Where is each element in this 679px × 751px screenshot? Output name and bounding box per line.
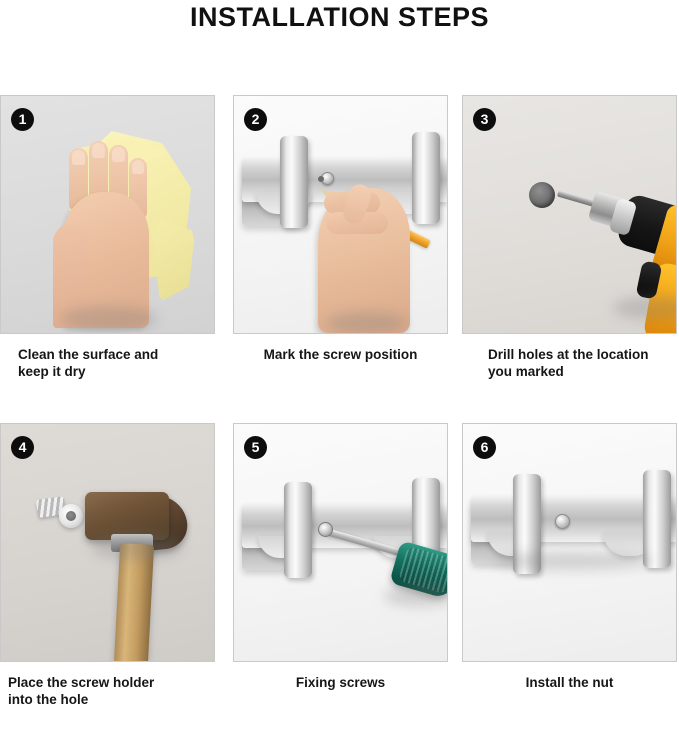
anchor-ring <box>59 504 83 528</box>
cloth-fold <box>151 216 195 302</box>
rack-shadow <box>493 552 653 570</box>
drill-shadow <box>613 296 677 320</box>
step-5-number-badge: 5 <box>244 436 267 459</box>
step-1-image: 1 <box>0 95 215 334</box>
screwdriver-shadow <box>384 586 448 606</box>
hammer-shadow <box>91 534 183 560</box>
steps-row-top: 1 Clean the surface and keep it dry <box>0 95 679 423</box>
step-4-number-badge: 4 <box>11 436 34 459</box>
step-4-caption: Place the screw holder into the hole <box>0 675 215 709</box>
steps-row-bottom: 4 Place the screw holder into the hole 5 <box>0 423 679 751</box>
step-3-caption: Drill holes at the location you marked <box>462 347 677 381</box>
step-6-image: 6 <box>462 423 677 662</box>
step-1-caption: Clean the surface and keep it dry <box>0 347 215 381</box>
step-6-number-badge: 6 <box>473 436 496 459</box>
step-2-number-badge: 2 <box>244 108 267 131</box>
hand-shadow <box>61 306 157 332</box>
step-6-caption: Install the nut <box>462 675 677 692</box>
hook-post-right <box>412 132 440 224</box>
step-3-number-badge: 3 <box>473 108 496 131</box>
screw-being-fixed <box>318 522 333 537</box>
drilled-hole <box>529 182 555 208</box>
installed-nut <box>555 514 570 529</box>
fingernail-index <box>72 150 85 165</box>
hook-post-left <box>280 136 308 228</box>
hook-post-left-5 <box>284 482 312 578</box>
fingernail-ring <box>112 147 125 162</box>
fingernail-middle <box>92 143 105 158</box>
step-card-3[interactable]: 3 Drill holes at the location you marked <box>462 95 677 381</box>
step-1-number-badge: 1 <box>11 108 34 131</box>
step-5-image: 5 <box>233 423 448 662</box>
step-5-caption: Fixing screws <box>233 675 448 692</box>
step-card-6[interactable]: 6 Install the nut <box>462 423 677 692</box>
step-card-4[interactable]: 4 Place the screw holder into the hole <box>0 423 215 709</box>
step-4-image: 4 <box>0 423 215 662</box>
step-card-5[interactable]: 5 Fixing screws <box>233 423 448 692</box>
step-card-2[interactable]: 2 Mark the screw position <box>233 95 448 364</box>
hand-shadow-2 <box>326 312 406 334</box>
hammer-handle <box>114 543 154 662</box>
page-title: INSTALLATION STEPS <box>0 2 679 33</box>
hook-post-right-6 <box>643 470 671 568</box>
step-2-image: 2 <box>233 95 448 334</box>
pencil-lead <box>318 176 324 182</box>
fingernail-little <box>132 160 144 174</box>
step-card-1[interactable]: 1 Clean the surface and keep it dry <box>0 95 215 381</box>
step-3-image: 3 <box>462 95 677 334</box>
installation-steps-grid: 1 Clean the surface and keep it dry <box>0 95 679 751</box>
hammer-head <box>85 492 169 540</box>
step-2-caption: Mark the screw position <box>233 347 448 364</box>
